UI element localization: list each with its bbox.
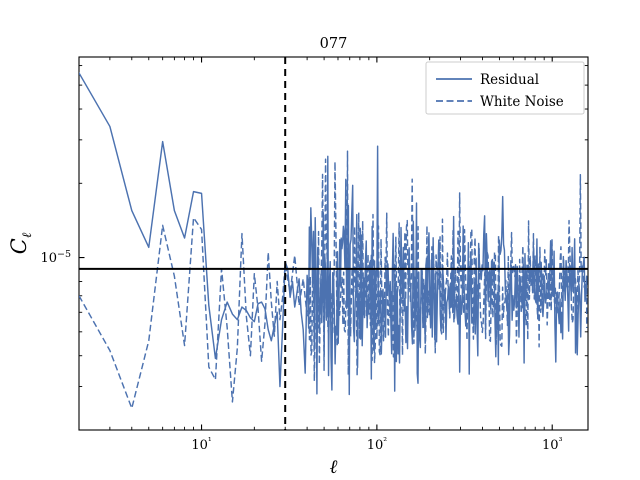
chart-title: 077 bbox=[320, 36, 348, 52]
x-tick-label: 10² bbox=[367, 436, 388, 453]
series-residual bbox=[79, 73, 587, 395]
x-tick-label: 10³ bbox=[542, 436, 563, 453]
legend[interactable]: ResidualWhite Noise bbox=[426, 62, 584, 114]
legend-label: Residual bbox=[480, 72, 539, 88]
plot-svg: 10¹10²10³10−5077ℓCℓResidualWhite Noise bbox=[0, 0, 640, 480]
legend-label: White Noise bbox=[480, 94, 564, 110]
figure-canvas: 10¹10²10³10−5077ℓCℓResidualWhite Noise bbox=[0, 0, 640, 480]
y-tick-label: 10−5 bbox=[40, 249, 71, 266]
svg-text:Cℓ: Cℓ bbox=[7, 232, 35, 254]
y-axis-label: Cℓ bbox=[7, 232, 35, 254]
x-axis-label: ℓ bbox=[330, 456, 338, 478]
x-tick-label: 10¹ bbox=[191, 436, 212, 453]
